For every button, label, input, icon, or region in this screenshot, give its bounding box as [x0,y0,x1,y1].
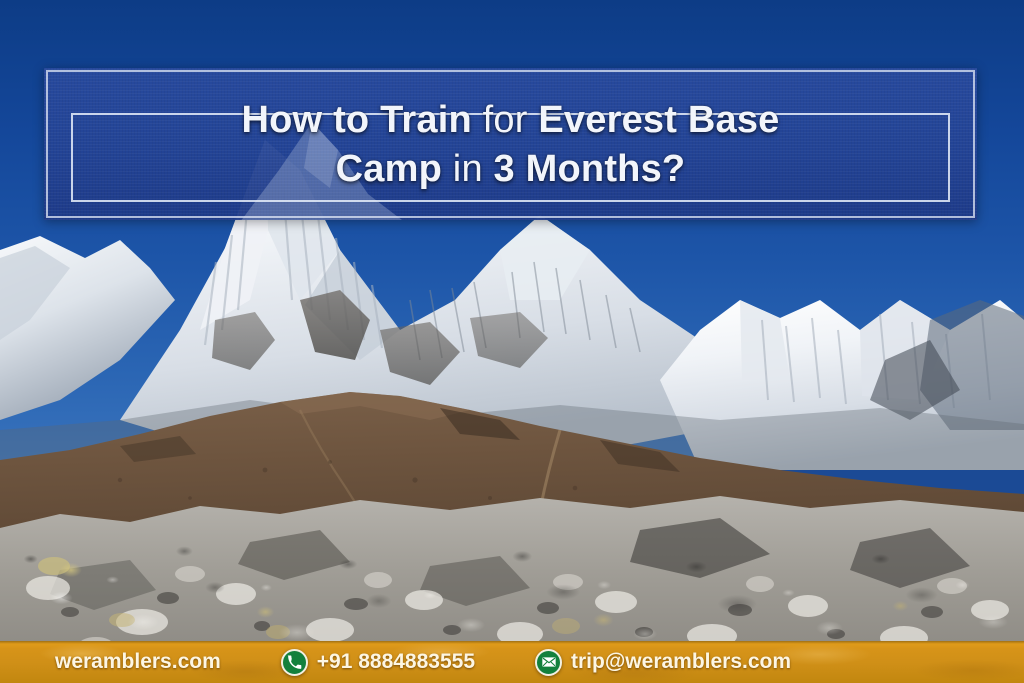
website-link[interactable]: weramblers.com [55,650,221,674]
title-line1-part3: Everest Base [538,99,779,141]
title-line-1: How to Train for Everest Base [242,96,780,145]
title-line-2: Camp in 3 Months? [336,145,686,194]
envelope-icon [535,649,562,676]
phone-contact[interactable]: +91 8884883555 [281,649,475,676]
title-text-block: How to Train for Everest Base Camp in 3 … [44,68,977,220]
title-line1-part2: for [472,99,538,141]
contact-bar-top-shadow [0,641,1024,644]
title-line1-part1: How to Train [242,99,472,141]
title-banner-panel: How to Train for Everest Base Camp in 3 … [44,68,977,220]
title-line2-part2: in [442,148,494,190]
email-contact[interactable]: trip@weramblers.com [535,649,791,676]
poster-banner-image: How to Train for Everest Base Camp in 3 … [0,0,1024,683]
title-line2-part1: Camp [336,148,442,190]
phone-number: +91 8884883555 [317,650,475,674]
email-address: trip@weramblers.com [571,650,791,674]
contact-bar: weramblers.com +91 8884883555 trip@weram… [0,641,1024,683]
title-line2-part3: 3 Months? [494,148,686,190]
website-label: weramblers.com [55,650,221,674]
phone-icon [281,649,308,676]
